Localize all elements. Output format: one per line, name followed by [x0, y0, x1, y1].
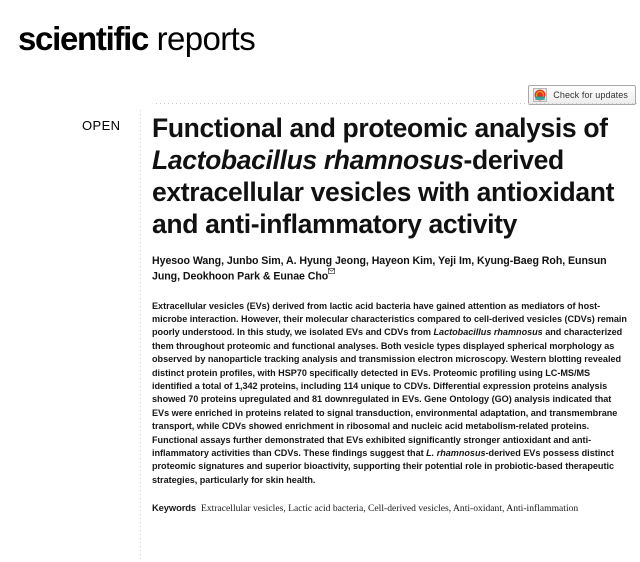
keywords-list: Extracellular vesicles, Lactic acid bact…	[201, 503, 578, 514]
check-for-updates-label: Check for updates	[553, 90, 628, 100]
header-dotted-rule	[156, 103, 640, 104]
sidebar-dotted-rule	[140, 110, 141, 562]
abstract-part2: and characterized them throughout proteo…	[152, 327, 622, 458]
article-title-part1: Functional and proteomic analysis of	[152, 113, 608, 143]
envelope-icon[interactable]	[328, 268, 335, 274]
journal-brand-light: reports	[148, 20, 255, 57]
author-names: Hyesoo Wang, Junbo Sim, A. Hyung Jeong, …	[152, 255, 607, 283]
keywords-row: KeywordsExtracellular vesicles, Lactic a…	[152, 501, 630, 515]
author-list: Hyesoo Wang, Junbo Sim, A. Hyung Jeong, …	[152, 254, 607, 285]
open-access-label: OPEN	[82, 118, 120, 133]
abstract-species-2: L. rhamnosus	[426, 448, 485, 458]
journal-brand-bold: scientific	[18, 20, 148, 57]
abstract-species-1: Lactobacillus rhamnosus	[434, 327, 543, 337]
journal-masthead: scientific reports	[18, 20, 255, 58]
article-title: Functional and proteomic analysis of Lac…	[152, 112, 632, 240]
keywords-label: Keywords	[152, 502, 196, 513]
article-abstract: Extracellular vesicles (EVs) derived fro…	[152, 300, 628, 488]
article-block: Functional and proteomic analysis of Lac…	[152, 112, 632, 515]
article-title-species: Lactobacillus rhamnosus	[152, 145, 464, 175]
check-for-updates-badge[interactable]: Check for updates	[528, 85, 636, 105]
crossmark-icon	[533, 88, 547, 102]
